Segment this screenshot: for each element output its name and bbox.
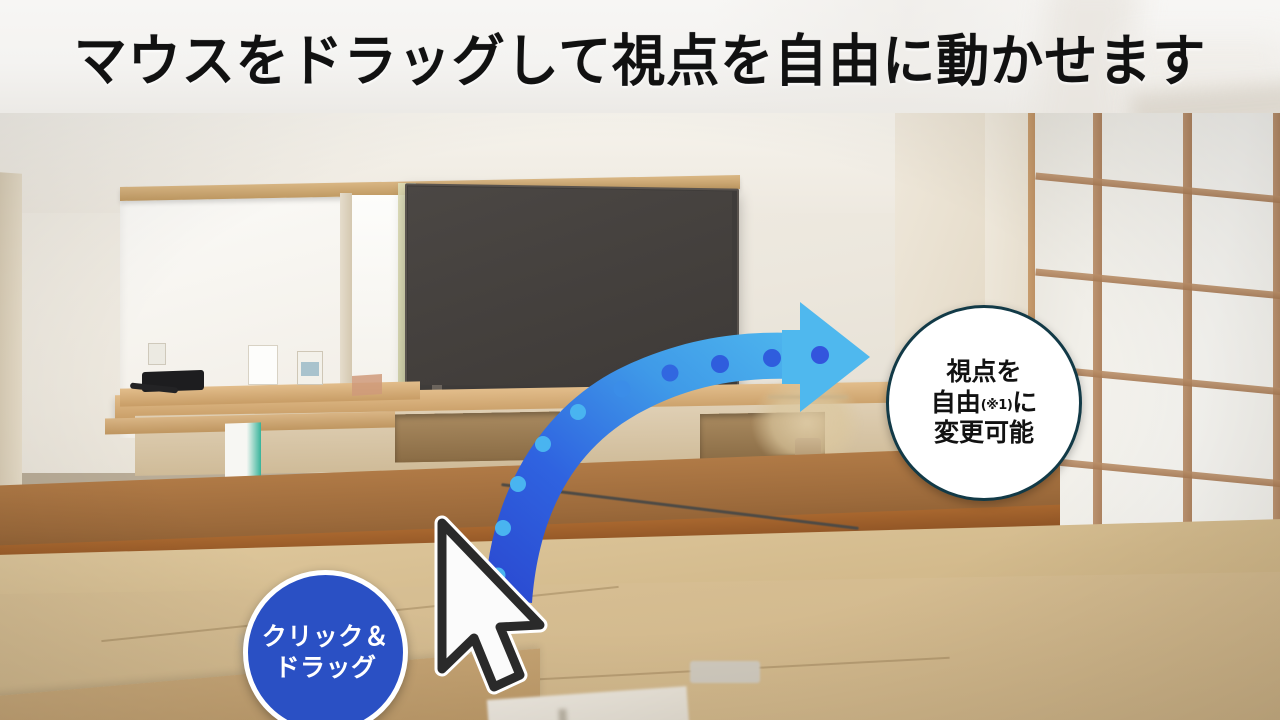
page-title: マウスをドラッグして視点を自由に動かせます [0,0,1280,113]
viewpoint-callout: 視点を 自由(※1)に 変更可能 [886,305,1082,501]
title-banner: マウスをドラッグして視点を自由に動かせます [0,0,1280,113]
click-drag-line2: ドラッグ [262,653,390,684]
click-drag-line1: クリック＆ [262,622,390,653]
viewpoint-line1: 視点を [931,357,1038,388]
viewpoint-footnote-marker: (※1) [981,398,1013,413]
mouse-pointer-icon [428,515,558,700]
panorama-viewer[interactable]: クリック＆ ドラッグ 視点を 自由(※1)に 変更可能 ‹ › [0,113,1280,720]
screenshot-root: マウスをドラッグして視点を自由に動かせます [0,0,1280,720]
viewpoint-line2-b: に [1012,388,1037,417]
viewpoint-line2: 自由(※1)に [931,388,1038,419]
viewpoint-line3: 変更可能 [931,418,1038,449]
viewpoint-line2-a: 自由 [931,388,981,417]
